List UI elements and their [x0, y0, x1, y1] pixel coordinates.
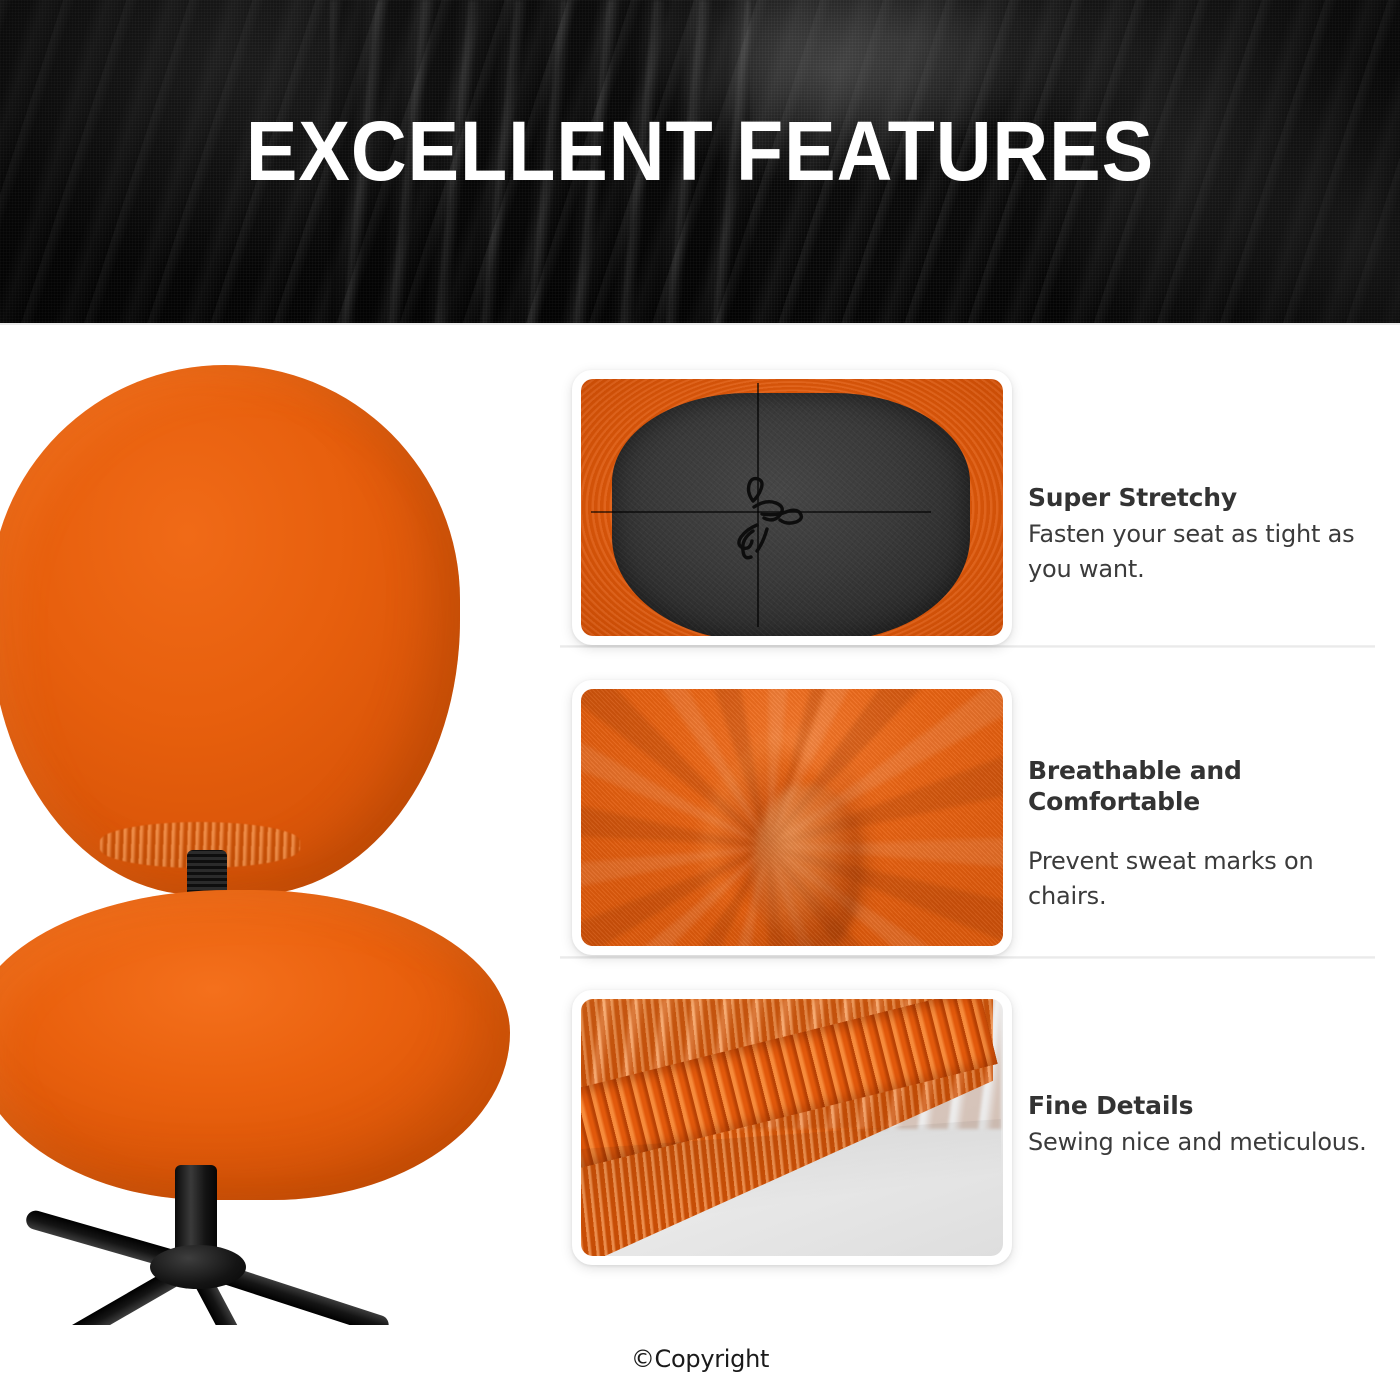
feature-title: Breathable and Comfortable	[1028, 755, 1383, 817]
row-divider	[560, 645, 1375, 648]
feature-text-block: Super Stretchy Fasten your seat as tight…	[1028, 482, 1383, 587]
feature-text-block: Breathable and Comfortable Prevent sweat…	[1028, 755, 1383, 914]
feature-title: Super Stretchy	[1028, 482, 1383, 513]
feature-description: Fasten your seat as tight as you want.	[1028, 517, 1383, 587]
feature-row: Breathable and Comfortable Prevent sweat…	[560, 680, 1400, 955]
feature-description: Sewing nice and meticulous.	[1028, 1125, 1383, 1160]
base-hub	[150, 1245, 246, 1289]
feature-text-block: Fine Details Sewing nice and meticulous.	[1028, 1090, 1383, 1160]
feature-list: Super Stretchy Fasten your seat as tight…	[560, 340, 1400, 1300]
feature-image-card	[572, 990, 1012, 1265]
product-photo	[0, 325, 560, 1325]
feature-title: Fine Details	[1028, 1090, 1383, 1121]
header-banner: EXCELLENT FEATURES	[0, 0, 1400, 325]
product-infographic: EXCELLENT FEATURES	[0, 0, 1400, 1400]
copyright-notice: ©Copyright	[0, 1345, 1400, 1373]
feature-image-1	[581, 379, 1003, 636]
feature-image-2	[581, 689, 1003, 946]
feature-description: Prevent sweat marks on chairs.	[1028, 844, 1383, 914]
row-divider	[560, 956, 1375, 959]
feature-image-card	[572, 680, 1012, 955]
chair-seat-cover	[0, 890, 510, 1200]
feature-image-3	[581, 999, 1003, 1256]
chair-backrest-cover	[0, 365, 460, 895]
feature-image-card	[572, 370, 1012, 645]
drawstring-ties-icon	[581, 379, 1003, 636]
feature-row: Fine Details Sewing nice and meticulous.	[560, 990, 1400, 1265]
page-title: EXCELLENT FEATURES	[56, 108, 1344, 194]
feature-row: Super Stretchy Fasten your seat as tight…	[560, 370, 1400, 645]
fabric-weave-texture	[581, 689, 1003, 946]
